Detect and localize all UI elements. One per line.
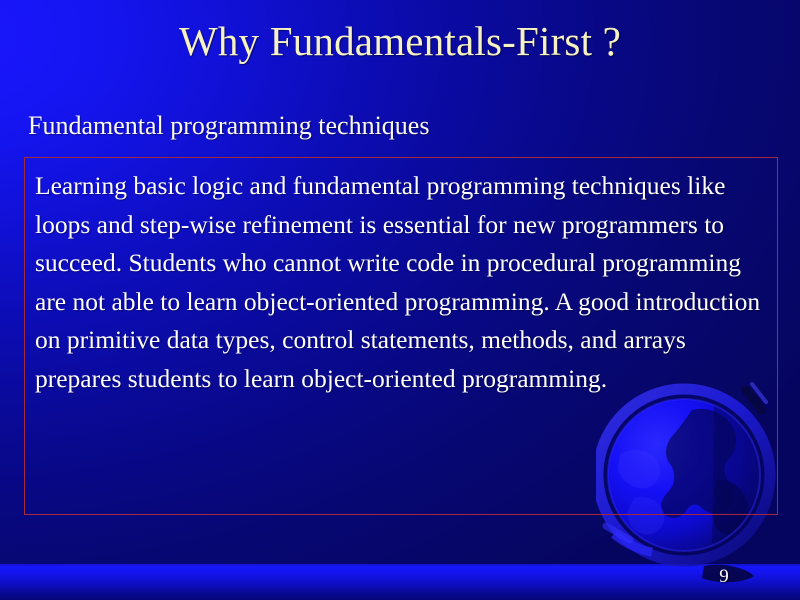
body-paragraph: Learning basic logic and fundamental pro… bbox=[35, 167, 771, 398]
bottom-band bbox=[0, 566, 800, 600]
page-title: Why Fundamentals-First ? bbox=[0, 18, 800, 65]
presentation-slide: Why Fundamentals-First ? Fundamental pro… bbox=[0, 0, 800, 600]
subtitle-text: Fundamental programming techniques bbox=[28, 110, 429, 141]
body-text-box: Learning basic logic and fundamental pro… bbox=[24, 157, 778, 515]
page-number: 9 bbox=[712, 566, 736, 588]
